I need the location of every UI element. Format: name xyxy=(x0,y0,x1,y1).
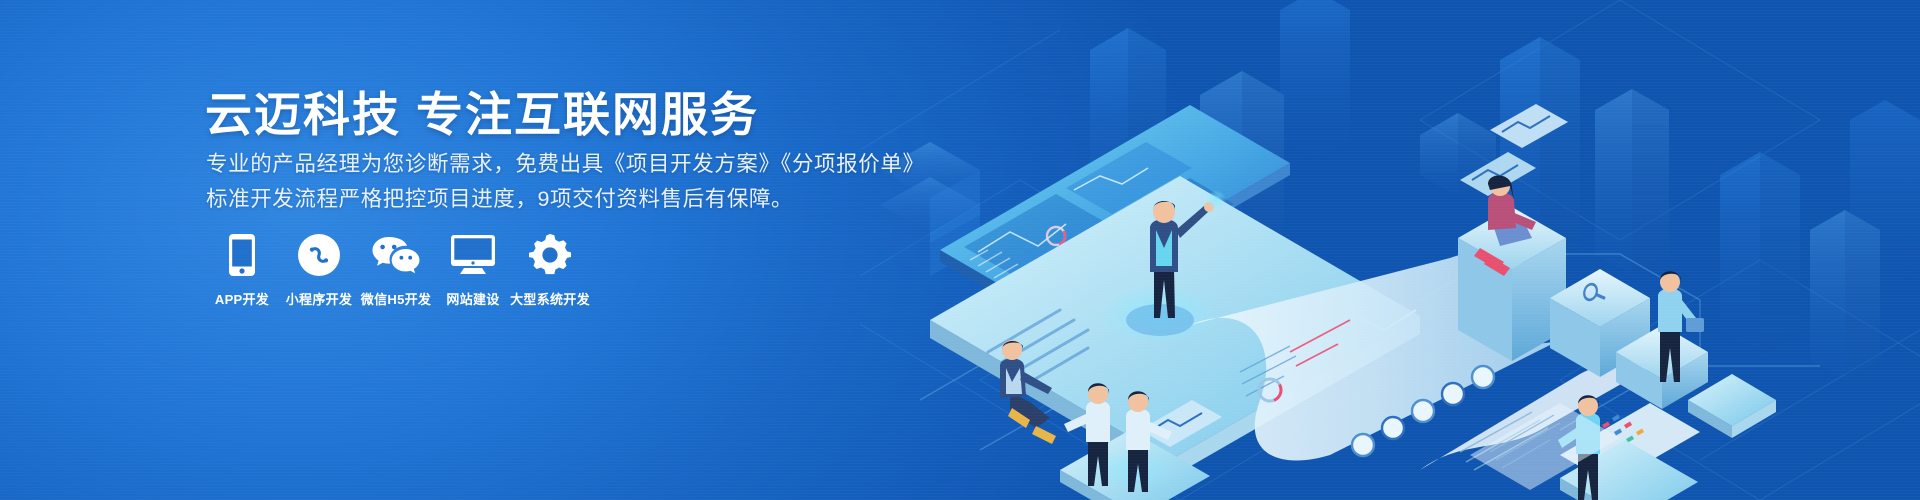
subtitle-line-1: 专业的产品经理为您诊断需求，免费出具《项目开发方案》《分项报价单》 xyxy=(206,147,925,178)
service-item-website[interactable]: 网站建设 xyxy=(436,232,510,308)
banner-content: 云迈科技 专注互联网服务 专业的产品经理为您诊断需求，免费出具《项目开发方案》《… xyxy=(205,0,965,500)
mini-program-icon xyxy=(298,232,340,278)
wechat-icon xyxy=(372,232,420,278)
service-item-app[interactable]: APP开发 xyxy=(205,232,279,308)
monitor-icon xyxy=(451,232,495,278)
service-item-miniprogram[interactable]: 小程序开发 xyxy=(282,232,356,308)
service-label: 网站建设 xyxy=(446,289,499,308)
service-item-wechat[interactable]: 微信H5开发 xyxy=(359,232,433,308)
service-label: 微信H5开发 xyxy=(361,289,431,308)
page-title: 云迈科技 专注互联网服务 xyxy=(205,76,759,145)
service-list: APP开发 小程序开发 xyxy=(205,232,587,308)
mobile-phone-icon xyxy=(229,232,255,278)
service-item-enterprise[interactable]: 大型系统开发 xyxy=(513,232,587,308)
service-label: APP开发 xyxy=(215,289,269,308)
illustration-svg xyxy=(860,0,1920,500)
hero-banner: 云迈科技 专注互联网服务 专业的产品经理为您诊断需求，免费出具《项目开发方案》《… xyxy=(0,0,1920,500)
isometric-technology-illustration xyxy=(860,0,1920,500)
gear-icon xyxy=(529,232,571,278)
service-label: 小程序开发 xyxy=(286,289,353,308)
subtitle-line-2: 标准开发流程严格把控项目进度，9项交付资料售后有保障。 xyxy=(206,182,793,213)
service-label: 大型系统开发 xyxy=(510,289,590,308)
